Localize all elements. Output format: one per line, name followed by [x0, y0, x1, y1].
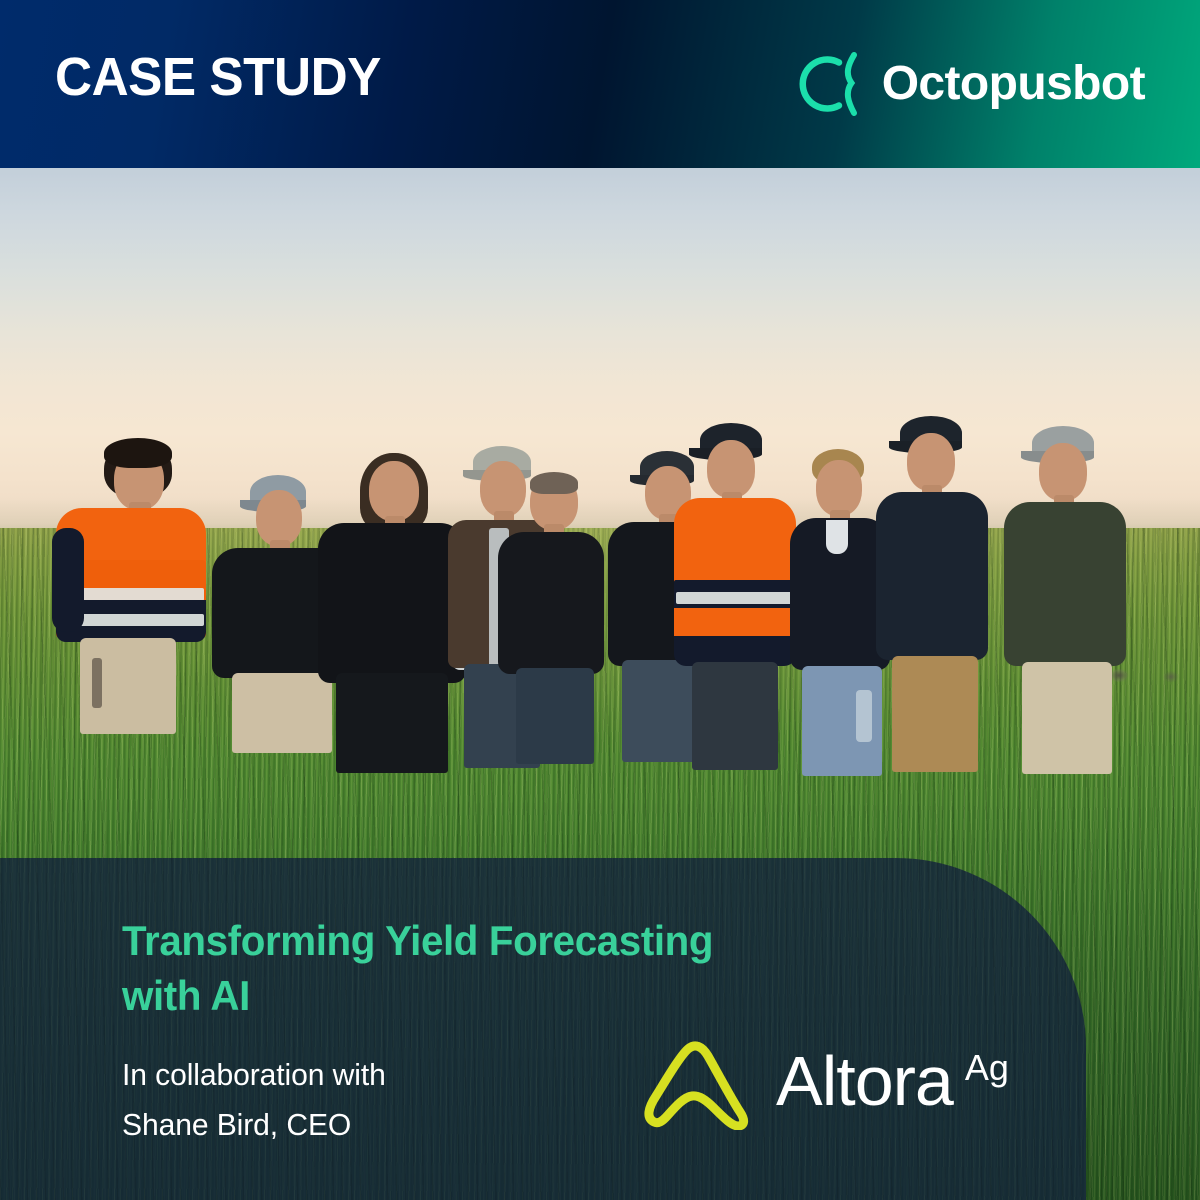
altora-a-arrow-icon [636, 1038, 764, 1130]
partner-name: Altora [776, 1046, 953, 1116]
partner-wordmark: Altora Ag [776, 1046, 1009, 1116]
collaboration-subline: In collaboration with Shane Bird, CEO [122, 1050, 386, 1149]
case-study-card: CASE STUDY Octopusbot [0, 0, 1200, 1200]
brand-lockup: Octopusbot [798, 52, 1145, 116]
brand-name: Octopusbot [882, 60, 1145, 108]
headline: Transforming Yield Forecasting with AI [122, 914, 713, 1023]
partner-suffix: Ag [965, 1050, 1009, 1086]
page-title: CASE STUDY [55, 50, 381, 104]
header-bar: CASE STUDY Octopusbot [0, 0, 1200, 168]
partner-logo-lockup: Altora Ag [636, 1038, 1009, 1130]
octopusbot-c-mark-icon [798, 52, 864, 116]
